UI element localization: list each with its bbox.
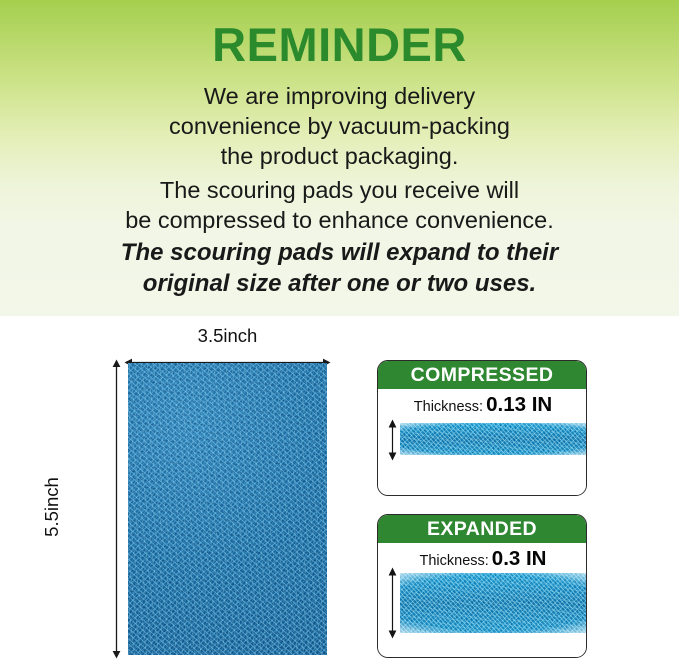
compressed-thickness-label: Thickness: <box>414 399 483 415</box>
paragraph-3-line-1: The scouring pads will expand to their <box>0 238 679 269</box>
expanded-card-header: EXPANDED <box>378 515 586 543</box>
expanded-thickness-value: 0.3 IN <box>492 547 547 570</box>
expanded-pad-strip <box>400 573 587 633</box>
paragraph-3-line-2: original size after one or two uses. <box>0 269 679 300</box>
compressed-info-card: COMPRESSED Thickness:0.13 IN <box>377 360 587 496</box>
paragraph-1-line-1: We are improving delivery <box>0 82 679 112</box>
compressed-thickness-arrow-icon <box>386 419 399 461</box>
reminder-title: REMINDER <box>0 20 679 69</box>
expanded-card-body: Thickness:0.3 IN <box>378 543 586 657</box>
reminder-paragraph-3: The scouring pads will expand to their o… <box>0 238 679 300</box>
product-section: 3.5inch 5.5inch COMPRESSED Thick <box>0 316 679 663</box>
compressed-thickness-value: 0.13 IN <box>486 393 552 416</box>
paragraph-2-line-2: be compressed to enhance convenience. <box>0 206 679 236</box>
height-dimension-label: 5.5inch <box>41 437 63 577</box>
expanded-thickness-row: Thickness:0.3 IN <box>378 549 587 570</box>
expanded-thickness-arrow-icon <box>386 567 399 639</box>
expanded-thickness-label: Thickness: <box>419 553 488 569</box>
reminder-paragraph-2: The scouring pads you receive will be co… <box>0 176 679 236</box>
expanded-info-card: EXPANDED Thickness:0.3 IN <box>377 514 587 658</box>
paragraph-2-line-1: The scouring pads you receive will <box>0 176 679 206</box>
paragraph-1-line-2: convenience by vacuum-packing <box>0 112 679 142</box>
reminder-banner: REMINDER We are improving delivery conve… <box>0 0 679 316</box>
width-dimension-label: 3.5inch <box>128 325 327 347</box>
compressed-thickness-row: Thickness:0.13 IN <box>378 395 587 416</box>
product-infographic: REMINDER We are improving delivery conve… <box>0 0 679 663</box>
compressed-card-body: Thickness:0.13 IN <box>378 389 586 495</box>
compressed-pad-strip <box>400 423 587 455</box>
paragraph-1-line-3: the product packaging. <box>0 142 679 172</box>
reminder-paragraph-1: We are improving delivery convenience by… <box>0 82 679 172</box>
compressed-card-header: COMPRESSED <box>378 361 586 389</box>
scouring-pad-image <box>128 363 327 655</box>
height-dimension-arrow-icon <box>111 359 122 659</box>
